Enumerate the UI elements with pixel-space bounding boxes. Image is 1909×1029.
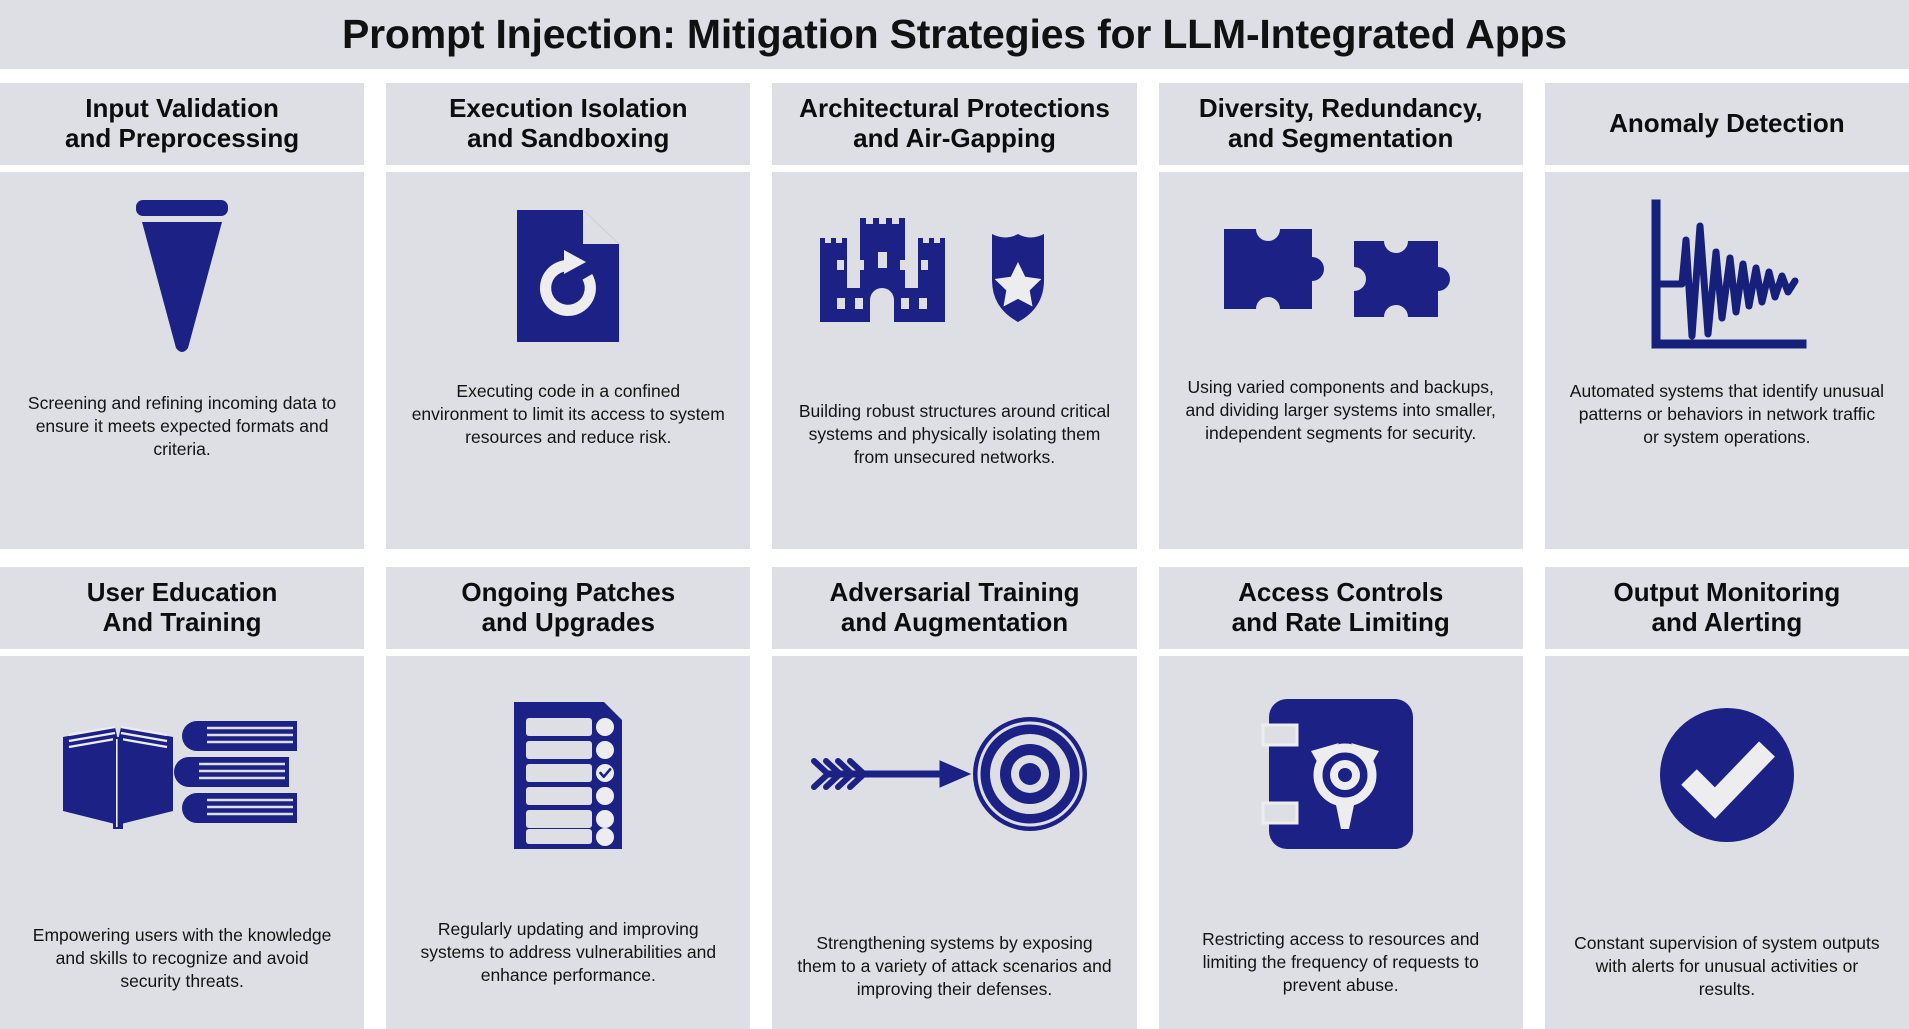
card-title-line-1: Ongoing Patches bbox=[461, 578, 675, 608]
card-description-wrap: Using varied components and backups, and… bbox=[1169, 366, 1513, 531]
card-icon-area bbox=[1169, 186, 1513, 366]
card-title: Access Controls and Rate Limiting bbox=[1232, 578, 1450, 637]
card-title-line-1: Input Validation bbox=[65, 94, 299, 124]
card-description: Using varied components and backups, and… bbox=[1169, 376, 1513, 444]
checklist-icon bbox=[508, 698, 628, 853]
card-title-line-2: And Training bbox=[87, 608, 278, 638]
card-header: Architectural Protections and Air-Gappin… bbox=[772, 83, 1136, 165]
card-description-wrap: Automated systems that identify unusual … bbox=[1555, 366, 1899, 531]
card-description: Restricting access to resources and limi… bbox=[1169, 928, 1513, 996]
funnel-icon bbox=[122, 196, 242, 356]
card-output-monitoring-and-alerting[interactable]: Output Monitoring and Alerting Constant … bbox=[1545, 567, 1909, 1029]
card-description-wrap: Building robust structures around critic… bbox=[782, 366, 1126, 531]
card-title-line-1: User Education bbox=[87, 578, 278, 608]
strategy-card-grid: Input Validation and Preprocessing Scree… bbox=[0, 83, 1909, 1029]
book-stack-icon bbox=[174, 721, 297, 823]
card-description: Regularly updating and improving systems… bbox=[396, 918, 740, 986]
card-title-line-2: and Rate Limiting bbox=[1232, 608, 1450, 638]
card-title: Adversarial Training and Augmentation bbox=[830, 578, 1080, 637]
card-body: Restricting access to resources and limi… bbox=[1159, 656, 1523, 1029]
card-anomaly-detection[interactable]: Anomaly Detection Automated systems bbox=[1545, 83, 1909, 549]
card-body: Strengthening systems by exposing them t… bbox=[772, 656, 1136, 1029]
card-header: User Education And Training bbox=[0, 567, 364, 649]
card-diversity-redundancy-and-segmentation[interactable]: Diversity, Redundancy, and Segmentation … bbox=[1159, 83, 1523, 549]
card-input-validation-and-preprocessing[interactable]: Input Validation and Preprocessing Scree… bbox=[0, 83, 364, 549]
shield-badge-icon bbox=[992, 234, 1044, 322]
card-title-line-1: Adversarial Training bbox=[830, 578, 1080, 608]
card-icon-area bbox=[1169, 670, 1513, 880]
open-book-and-book-stack-icon bbox=[57, 715, 307, 835]
card-description-wrap: Screening and refining incoming data to … bbox=[10, 366, 354, 531]
card-body: Automated systems that identify unusual … bbox=[1545, 172, 1909, 549]
card-architectural-protections-and-air-gapping[interactable]: Architectural Protections and Air-Gappin… bbox=[772, 83, 1136, 549]
card-title-line-1: Execution Isolation bbox=[449, 94, 687, 124]
document-refresh-icon bbox=[513, 206, 623, 346]
card-title: Output Monitoring and Alerting bbox=[1614, 578, 1841, 637]
card-icon-area bbox=[1555, 186, 1899, 366]
castle-and-shield-icon bbox=[804, 216, 1104, 336]
open-book-icon bbox=[63, 727, 173, 829]
safe-vault-icon bbox=[1261, 695, 1421, 855]
card-icon-area bbox=[10, 186, 354, 366]
card-description: Constant supervision of system outputs w… bbox=[1555, 932, 1899, 1000]
card-user-education-and-training[interactable]: User Education And Training bbox=[0, 567, 364, 1029]
card-description: Building robust structures around critic… bbox=[782, 400, 1126, 468]
card-description: Empowering users with the knowledge and … bbox=[10, 924, 354, 992]
card-title-line-1: Output Monitoring bbox=[1614, 578, 1841, 608]
puzzle-pieces-icon bbox=[1216, 221, 1466, 331]
card-title-line-2: and Alerting bbox=[1614, 608, 1841, 638]
target-icon bbox=[973, 717, 1087, 831]
card-description-wrap: Executing code in a confined environment… bbox=[396, 366, 740, 531]
card-title-line-2: and Preprocessing bbox=[65, 124, 299, 154]
arrow-icon bbox=[814, 761, 970, 787]
check-circle-icon bbox=[1657, 705, 1797, 845]
page-title: Prompt Injection: Mitigation Strategies … bbox=[342, 11, 1567, 58]
card-adversarial-training-and-augmentation[interactable]: Adversarial Training and Augmentation bbox=[772, 567, 1136, 1029]
card-header: Output Monitoring and Alerting bbox=[1545, 567, 1909, 649]
card-description-wrap: Strengthening systems by exposing them t… bbox=[782, 880, 1126, 1029]
card-title-line-2: and Segmentation bbox=[1199, 124, 1483, 154]
card-body: Building robust structures around critic… bbox=[772, 172, 1136, 549]
card-title: User Education And Training bbox=[87, 578, 278, 637]
card-body: Screening and refining incoming data to … bbox=[0, 172, 364, 549]
card-icon-area bbox=[782, 186, 1126, 366]
card-body: Constant supervision of system outputs w… bbox=[1545, 656, 1909, 1029]
card-header: Diversity, Redundancy, and Segmentation bbox=[1159, 83, 1523, 165]
card-description-wrap: Constant supervision of system outputs w… bbox=[1555, 880, 1899, 1029]
card-header: Adversarial Training and Augmentation bbox=[772, 567, 1136, 649]
card-title: Anomaly Detection bbox=[1609, 109, 1845, 139]
title-banner: Prompt Injection: Mitigation Strategies … bbox=[0, 0, 1909, 69]
card-title-line-1: Diversity, Redundancy, bbox=[1199, 94, 1483, 124]
arrow-and-target-icon bbox=[804, 715, 1104, 835]
card-body: Executing code in a confined environment… bbox=[386, 172, 750, 549]
card-title-line-2: and Sandboxing bbox=[449, 124, 687, 154]
card-icon-area bbox=[782, 670, 1126, 880]
damped-oscillation-chart-icon bbox=[1642, 196, 1812, 356]
card-description: Automated systems that identify unusual … bbox=[1555, 380, 1899, 448]
card-header: Anomaly Detection bbox=[1545, 83, 1909, 165]
card-body: Empowering users with the knowledge and … bbox=[0, 656, 364, 1029]
card-description: Executing code in a confined environment… bbox=[396, 380, 740, 448]
card-title-line-2: and Augmentation bbox=[830, 608, 1080, 638]
card-icon-area bbox=[1555, 670, 1899, 880]
card-title-line-1: Anomaly Detection bbox=[1609, 109, 1845, 139]
card-description-wrap: Regularly updating and improving systems… bbox=[396, 880, 740, 1029]
card-description: Screening and refining incoming data to … bbox=[10, 392, 354, 460]
card-header: Ongoing Patches and Upgrades bbox=[386, 567, 750, 649]
card-ongoing-patches-and-upgrades[interactable]: Ongoing Patches and Upgrades bbox=[386, 567, 750, 1029]
infographic-page: Prompt Injection: Mitigation Strategies … bbox=[0, 0, 1909, 1029]
card-body: Using varied components and backups, and… bbox=[1159, 172, 1523, 549]
card-description-wrap: Restricting access to resources and limi… bbox=[1169, 880, 1513, 1029]
card-access-controls-and-rate-limiting[interactable]: Access Controls and Rate Limiting bbox=[1159, 567, 1523, 1029]
card-header: Access Controls and Rate Limiting bbox=[1159, 567, 1523, 649]
card-icon-area bbox=[396, 670, 740, 880]
card-title: Execution Isolation and Sandboxing bbox=[449, 94, 687, 153]
card-title-line-1: Access Controls bbox=[1232, 578, 1450, 608]
card-description: Strengthening systems by exposing them t… bbox=[782, 932, 1126, 1000]
card-title: Diversity, Redundancy, and Segmentation bbox=[1199, 94, 1483, 153]
castle-icon bbox=[820, 218, 945, 322]
card-icon-area bbox=[396, 186, 740, 366]
card-header: Input Validation and Preprocessing bbox=[0, 83, 364, 165]
card-title: Input Validation and Preprocessing bbox=[65, 94, 299, 153]
card-icon-area bbox=[10, 670, 354, 880]
card-title-line-2: and Upgrades bbox=[461, 608, 675, 638]
card-header: Execution Isolation and Sandboxing bbox=[386, 83, 750, 165]
card-title: Architectural Protections and Air-Gappin… bbox=[799, 94, 1110, 153]
card-description-wrap: Empowering users with the knowledge and … bbox=[10, 880, 354, 1029]
card-title: Ongoing Patches and Upgrades bbox=[461, 578, 675, 637]
card-body: Regularly updating and improving systems… bbox=[386, 656, 750, 1029]
card-title-line-2: and Air-Gapping bbox=[799, 124, 1110, 154]
card-execution-isolation-and-sandboxing[interactable]: Execution Isolation and Sandboxing bbox=[386, 83, 750, 549]
card-title-line-1: Architectural Protections bbox=[799, 94, 1110, 124]
